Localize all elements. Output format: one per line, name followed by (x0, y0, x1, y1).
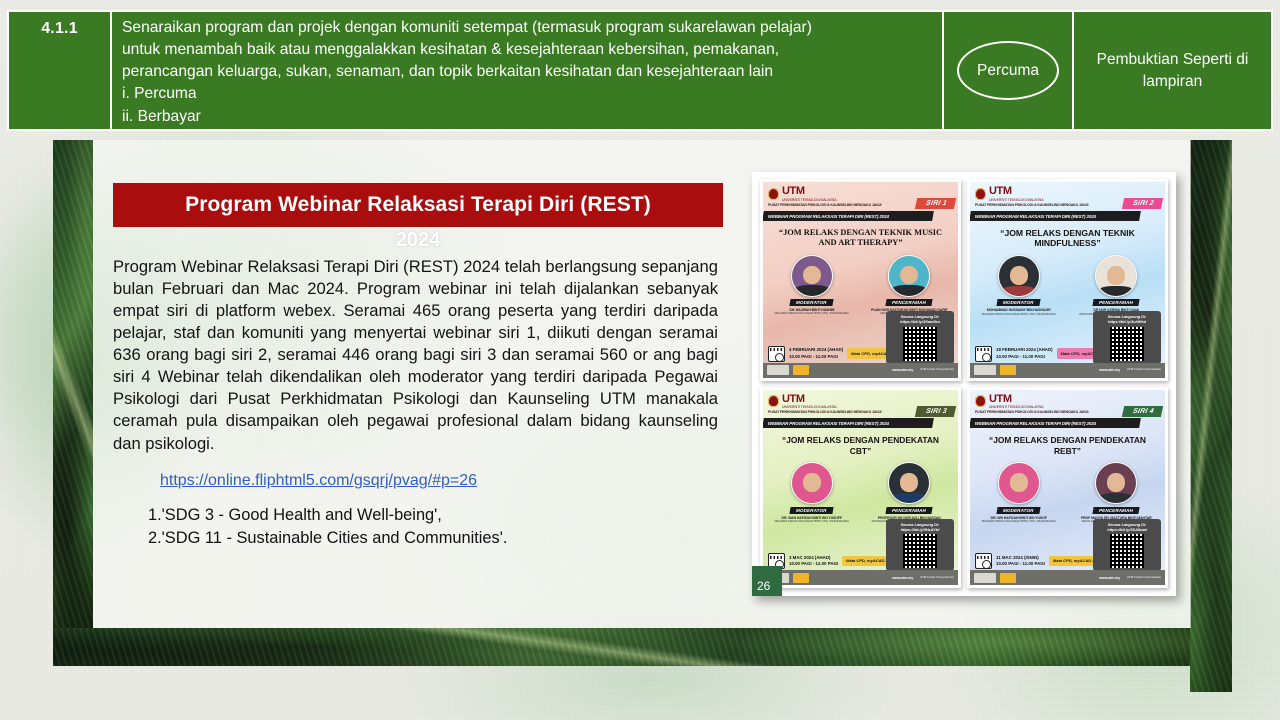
body-shape (795, 493, 829, 503)
live-url: https://bit.ly/3Sam5cx (889, 319, 951, 324)
face-shape (900, 473, 918, 491)
criteria-description-cell: Senaraikan program dan projek dengan kom… (112, 12, 944, 129)
sdg-list: 1.'SDG 3 - Good Health and Well-being', … (113, 504, 735, 551)
speaker-role-badge: PENCERAMAH (886, 299, 933, 306)
poster-socials: UTM Crowd Young Venture (920, 368, 954, 372)
program-title-banner: Program Webinar Relaksasi Terapi Diri (R… (113, 183, 723, 227)
poster-socials: UTM Crowd Young Venture (1127, 368, 1161, 372)
speaker-role: PENCERAMAH (892, 508, 926, 513)
poster-title: “JOM RELAKS DENGAN TEKNIK MUSIC AND ART … (763, 221, 958, 252)
poster-title: “JOM RELAKS DENGAN PENDEKATAN CBT” (763, 428, 958, 459)
criteria-code-cell: 4.1.1 (9, 12, 112, 129)
face-shape (1107, 473, 1125, 491)
face-shape (803, 473, 821, 491)
poster-time: 10.00 PAGI - 11.00 PAGI (789, 354, 843, 360)
poster-program-strip-text: WEBINAR PROGRAM RELAKSASI TERAPI DIRI (R… (975, 421, 1096, 426)
moderator-role-badge: MODERATOR (997, 299, 1041, 306)
poster-bottom-bar: www.utm.my UTM Crowd Young Venture (970, 570, 1165, 585)
speaker-role: PENCERAMAH (1099, 300, 1133, 305)
top-ranking-badge-icon (793, 573, 809, 583)
live-url: https://bit.ly/3SAlbwd (1096, 527, 1158, 532)
program-year: 2024 (113, 229, 723, 252)
sdg-item-2: 2.'SDG 11 - Sustainable Cities and Commu… (148, 527, 735, 550)
poster-socials: UTM Crowd Young Venture (1127, 576, 1161, 580)
moderator-org: PEGAWAI PSIKOLOGI KANAN PPPK UTM, JOHOR … (769, 312, 855, 316)
live-url: https://bit.ly/3uh5fed (1096, 319, 1158, 324)
qr-code-icon (903, 534, 937, 568)
siri-badge: SIRI 3 (915, 406, 956, 417)
siri-badge: SIRI 1 (915, 198, 956, 209)
poster-moderator: MODERATOR DR. WN HAFIZAH BINTI WN YUSOF … (976, 462, 1062, 527)
poster-siri-3[interactable]: UTM UNIVERSITI TEKNOLOGI MALAYSIA PUSAT … (760, 387, 961, 589)
moderator-org: PEGAWAI PSIKOLOGI KANAN PPPK UTM, JOHOR … (976, 313, 1062, 317)
poster-bottom-bar: www.utm.my UTM Crowd Young Venture (763, 570, 958, 585)
poster-datetime: 11 MAC 2024 (ISNIN) 10.00 PAGI - 11.00 P… (996, 555, 1045, 567)
poster-datetime: 4 FEBRUARI 2024 (AHAD) 10.00 PAGI - 11.0… (789, 347, 843, 359)
poster-collage: UTM UNIVERSITI TEKNOLOGI MALAYSIA PUSAT … (760, 179, 1168, 588)
speaker-avatar (888, 462, 930, 504)
poster-time: 10.00 PAGI - 11.00 PAGI (996, 354, 1053, 360)
poster-title: “JOM RELAKS DENGAN PENDEKATAN REBT” (970, 428, 1165, 459)
live-url: https://bit.ly/3HzAYbf (889, 527, 951, 532)
top-ranking-badge-icon (1000, 365, 1016, 375)
poster-live-box: Secara Langsung Di: https://bit.ly/3Sam5… (886, 311, 954, 363)
poster-siri-1[interactable]: UTM UNIVERSITI TEKNOLOGI MALAYSIA PUSAT … (760, 179, 961, 381)
qr-code-icon (1110, 327, 1144, 361)
poster-website: www.utm.my (892, 576, 913, 580)
poster-speaker: PENCERAMAH PROFESOR DR NOR AZLI BIN HASS… (866, 462, 952, 527)
face-shape (1010, 266, 1028, 284)
utm-wordmark: UTM (989, 186, 1043, 197)
top-ranking-badge-icon (793, 365, 809, 375)
moderator-role-badge: MODERATOR (790, 507, 834, 514)
poster-bottom-bar: www.utm.my UTM Crowd Young Venture (970, 363, 1165, 378)
poster-siri-4[interactable]: UTM UNIVERSITI TEKNOLOGI MALAYSIA PUSAT … (967, 387, 1168, 589)
body-shape (892, 285, 926, 295)
speaker-role-badge: PENCERAMAH (1093, 299, 1140, 306)
speaker-avatar (1095, 255, 1137, 297)
poster-time: 10.00 PAGI - 12.00 PAGI (789, 561, 838, 567)
selected-option-label: Percuma (977, 62, 1039, 80)
body-shape (1002, 493, 1036, 503)
poster-website: www.utm.my (892, 368, 913, 372)
body-shape (1002, 286, 1036, 296)
moderator-role-badge: MODERATOR (790, 299, 834, 306)
utm-crest-icon (975, 395, 986, 407)
utm-wordmark: UTM (782, 394, 836, 405)
poster-speakers: MODERATOR DR. WAN HAFIZAH BINTI WN YUSOF… (763, 462, 958, 527)
moderator-org: PEGAWAI PSIKOLOGI KANAN PPPK UTM, JOHOR … (769, 520, 855, 524)
body-shape (795, 285, 829, 295)
criteria-code: 4.1.1 (41, 20, 78, 38)
poster-socials: UTM Crowd Young Venture (920, 576, 954, 580)
calendar-clock-icon (768, 346, 785, 362)
poster-program-strip-text: WEBINAR PROGRAM RELAKSASI TERAPI DIRI (R… (768, 213, 889, 218)
moderator-avatar (791, 255, 833, 297)
poster-siri-2[interactable]: UTM UNIVERSITI TEKNOLOGI MALAYSIA PUSAT … (967, 179, 1168, 381)
speaker-role-badge: PENCERAMAH (1093, 507, 1140, 514)
poster-program-strip-text: WEBINAR PROGRAM RELAKSASI TERAPI DIRI (R… (768, 421, 889, 426)
criteria-description-line-3: perancangan keluarga, sukan, senaman, da… (122, 61, 934, 83)
speaker-avatar (1095, 462, 1137, 504)
poster-speaker: PENCERAMAH PUAN NOR NAZZURAH BINTI MOHAM… (866, 255, 952, 316)
moderator-avatar (998, 462, 1040, 504)
face-shape (1010, 473, 1028, 491)
body-shape (1099, 286, 1133, 296)
proof-label: Pembuktian Seperti di lampiran (1080, 49, 1265, 92)
poster-moderator: MODERATOR CIK HAZIRAH BINTI HASHIM PEGAW… (769, 255, 855, 316)
utm-subtitle: UNIVERSITI TEKNOLOGI MALAYSIA (989, 405, 1043, 409)
poster-program-strip: WEBINAR PROGRAM RELAKSASI TERAPI DIRI (R… (969, 418, 1141, 428)
moderator-org: PEGAWAI PSIKOLOGI KANAN PPPK UTM, JOHOR … (976, 520, 1062, 524)
moderator-role: MODERATOR (796, 300, 827, 305)
poster-speakers: MODERATOR CIK HAZIRAH BINTI HASHIM PEGAW… (763, 255, 958, 316)
criteria-proof-cell: Pembuktian Seperti di lampiran (1074, 12, 1271, 129)
poster-program-strip: WEBINAR PROGRAM RELAKSASI TERAPI DIRI (R… (762, 211, 934, 221)
speaker-avatar (888, 255, 930, 297)
poster-time: 10.00 PAGI - 11.00 PAGI (996, 561, 1045, 567)
program-title: Program Webinar Relaksasi Terapi Diri (R… (185, 193, 651, 217)
leaf-decoration-bottom (53, 628, 1230, 666)
speaker-role: PENCERAMAH (1099, 508, 1133, 513)
calendar-clock-icon (975, 346, 992, 362)
face-shape (1107, 266, 1125, 284)
sdg-item-1: 1.'SDG 3 - Good Health and Well-being', (148, 504, 735, 527)
poster-moderator: MODERATOR DR. WAN HAFIZAH BINTI WN YUSOF… (769, 462, 855, 527)
poster-live-box: Secara Langsung Di: https://bit.ly/3HzAY… (886, 519, 954, 571)
poster-date: 4 FEBRUARI 2024 (AHAD) (789, 347, 843, 353)
calendar-clock-icon (975, 553, 992, 569)
utm-wordmark: UTM (782, 186, 836, 197)
poster-speaker: PENCERAMAH DR NUR AZIEMA BINTI SAIAI PEN… (1073, 255, 1159, 320)
top-ranking-badge-icon (1000, 573, 1016, 583)
program-description: Program Webinar Relaksasi Terapi Diri (R… (113, 256, 718, 455)
criteria-selection-cell: Percuma (944, 12, 1074, 129)
utm-wordmark: UTM (989, 394, 1043, 405)
reference-link[interactable]: https://online.fliphtml5.com/gsqrj/pvag/… (160, 472, 477, 489)
moderator-role: MODERATOR (796, 508, 827, 513)
utm-crest-icon (768, 188, 779, 200)
criteria-option-free: i. Percuma (122, 83, 934, 105)
poster-live-box: Secara Langsung Di: https://bit.ly/3uh5f… (1093, 311, 1161, 363)
poster-moderator: MODERATOR MOHAMMAD HUSSAINY BIN HASHAZIR… (976, 255, 1062, 320)
stars-badge-icon (974, 573, 996, 583)
poster-speakers: MODERATOR MOHAMMAD HUSSAINY BIN HASHAZIR… (970, 255, 1165, 320)
moderator-role: MODERATOR (1003, 300, 1034, 305)
poster-website: www.utm.my (1099, 576, 1120, 580)
stars-badge-icon (974, 365, 996, 375)
utm-subtitle: UNIVERSITI TEKNOLOGI MALAYSIA (989, 198, 1043, 202)
face-shape (803, 266, 821, 284)
poster-date: 18 FEBRUARI 2024 (AHAD) (996, 347, 1053, 353)
body-shape (892, 493, 926, 503)
poster-datetime: 18 FEBRUARI 2024 (AHAD) 10.00 PAGI - 11.… (996, 347, 1053, 359)
page-number-badge: 26 (752, 566, 782, 596)
left-text-column: Program Webinar Relaksasi Terapi Diri (R… (113, 183, 735, 550)
leaf-decoration-left (53, 140, 93, 635)
selected-option-ellipse: Percuma (957, 41, 1059, 100)
moderator-role: MODERATOR (1003, 508, 1034, 513)
poster-datetime: 3 MAC 2024 (AHAD) 10.00 PAGI - 12.00 PAG… (789, 555, 838, 567)
reference-link-row: https://online.fliphtml5.com/gsqrj/pvag/… (113, 472, 735, 490)
criteria-option-paid: ii. Berbayar (122, 106, 934, 128)
poster-speaker: PENCERAMAH PROF MADYA DR. MAZTURA BINTI … (1073, 462, 1159, 527)
siri-badge: SIRI 2 (1122, 198, 1163, 209)
utm-crest-icon (975, 188, 986, 200)
moderator-avatar (791, 462, 833, 504)
poster-program-strip: WEBINAR PROGRAM RELAKSASI TERAPI DIRI (R… (762, 418, 934, 428)
criteria-description-line-1: Senaraikan program dan projek dengan kom… (122, 17, 934, 39)
face-shape (900, 266, 918, 284)
moderator-avatar (998, 255, 1040, 297)
stars-badge-icon (767, 365, 789, 375)
poster-title: “JOM RELAKS DENGAN TEKNIK MINDFULNESS” (970, 221, 1165, 252)
criteria-description-line-2: untuk menambah baik atau menggalakkan ke… (122, 39, 934, 61)
utm-subtitle: UNIVERSITI TEKNOLOGI MALAYSIA (782, 405, 836, 409)
poster-website: www.utm.my (1099, 368, 1120, 372)
poster-speakers: MODERATOR DR. WN HAFIZAH BINTI WN YUSOF … (970, 462, 1165, 527)
siri-badge: SIRI 4 (1122, 406, 1163, 417)
qr-code-icon (1110, 534, 1144, 568)
utm-subtitle: UNIVERSITI TEKNOLOGI MALAYSIA (782, 198, 836, 202)
poster-program-strip: WEBINAR PROGRAM RELAKSASI TERAPI DIRI (R… (969, 211, 1141, 221)
poster-bottom-bar: www.utm.my UTM Crowd Young Venture (763, 363, 958, 378)
speaker-role-badge: PENCERAMAH (886, 507, 933, 514)
criteria-table: 4.1.1 Senaraikan program dan projek deng… (7, 10, 1273, 131)
leaf-decoration-right (1190, 140, 1232, 692)
qr-code-icon (903, 327, 937, 361)
poster-live-box: Secara Langsung Di: https://bit.ly/3SAlb… (1093, 519, 1161, 571)
body-shape (1099, 493, 1133, 503)
moderator-role-badge: MODERATOR (997, 507, 1041, 514)
speaker-role: PENCERAMAH (892, 300, 926, 305)
utm-crest-icon (768, 395, 779, 407)
poster-program-strip-text: WEBINAR PROGRAM RELAKSASI TERAPI DIRI (R… (975, 213, 1096, 218)
